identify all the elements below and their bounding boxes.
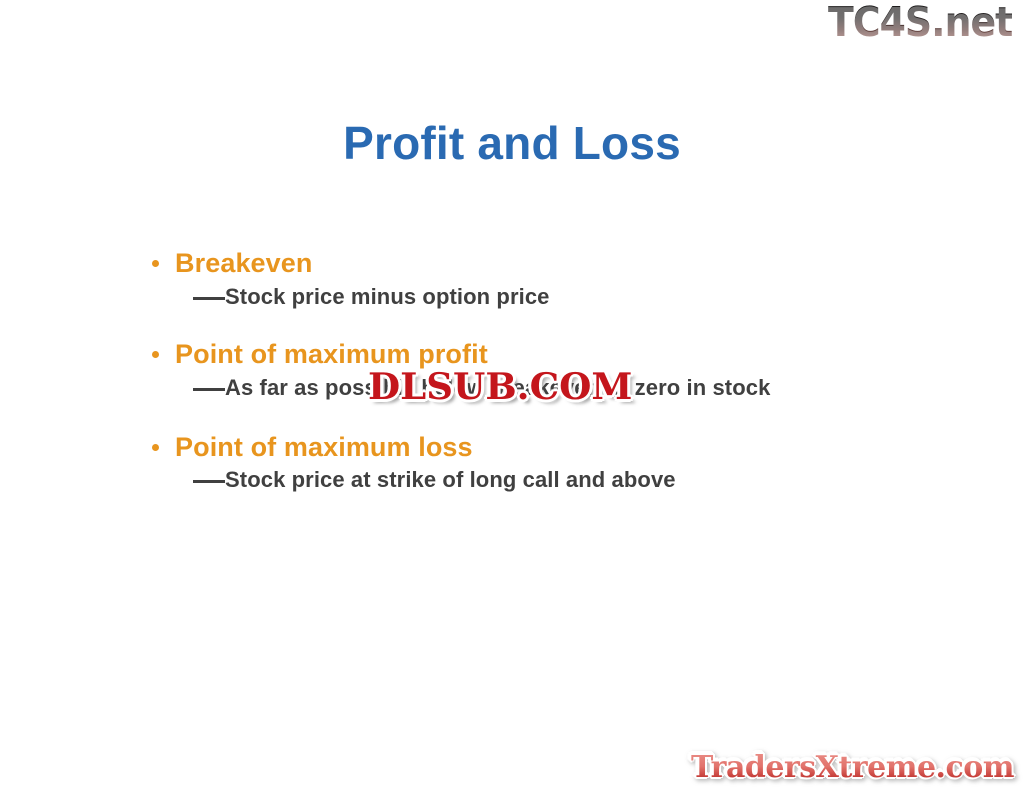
presentation-slide: TC4S.net Profit and Loss Breakeven Stock…	[0, 0, 1024, 791]
sub-bullet-item-breakeven: Stock price minus option price	[140, 284, 930, 310]
em-dash-icon	[193, 480, 225, 483]
bullet-dot-icon	[152, 351, 159, 358]
em-dash-icon	[193, 297, 225, 300]
bullet-item-breakeven: Breakeven	[140, 248, 930, 280]
bullet-dot-icon	[152, 260, 159, 267]
sub-bullet-label: Stock price minus option price	[225, 284, 550, 310]
bullet-dot-icon	[152, 444, 159, 451]
em-dash-icon	[193, 388, 225, 391]
tc4s-logo: TC4S.net	[828, 2, 1012, 43]
bullet-item-max-loss: Point of maximum loss	[140, 432, 930, 464]
sub-bullet-label: Stock price at strike of long call and a…	[225, 467, 676, 493]
spacer	[140, 320, 930, 339]
bullet-item-max-profit: Point of maximum profit	[140, 339, 930, 371]
tradersxtreme-logo: TradersXtreme.com	[691, 753, 1014, 783]
spacer	[140, 412, 930, 432]
sub-bullet-item-max-profit: As far as possible below breakeven … zer…	[140, 375, 930, 401]
slide-title: Profit and Loss	[0, 118, 1024, 170]
bullet-list: Breakeven Stock price minus option price…	[140, 248, 930, 504]
sub-bullet-label: As far as possible below breakeven … zer…	[225, 375, 770, 401]
sub-bullet-item-max-loss: Stock price at strike of long call and a…	[140, 467, 930, 493]
bullet-label: Breakeven	[175, 248, 313, 278]
bullet-label: Point of maximum profit	[175, 339, 488, 369]
bullet-label: Point of maximum loss	[175, 432, 473, 462]
